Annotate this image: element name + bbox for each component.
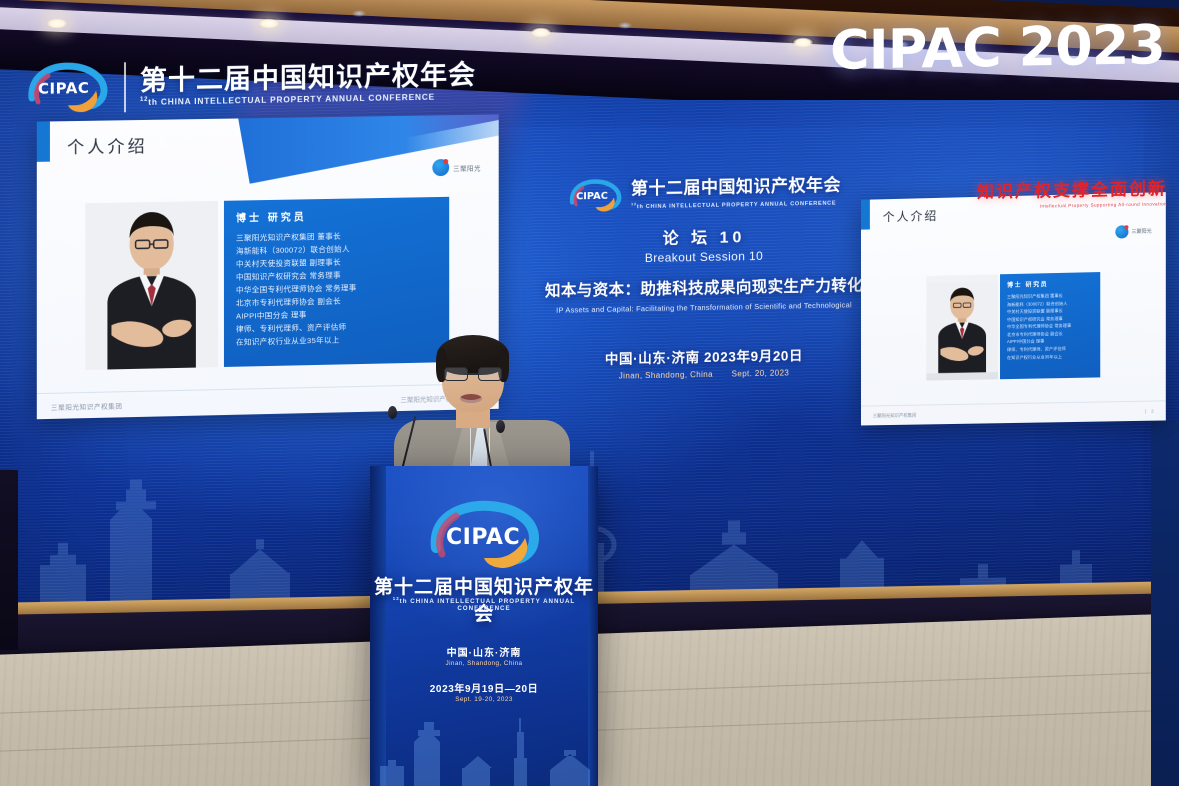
slide-accent-bar: [37, 121, 50, 161]
right-slide-footer-brand: 三聚阳光知识产权集团: [873, 412, 916, 419]
left-slide-brand-text: 三聚阳光: [453, 162, 481, 172]
podium-title-en: 12th CHINA INTELLECTUAL PROPERTY ANNUAL …: [370, 596, 598, 612]
session-location-cn: 中国·山东·济南 2023年9月20日: [545, 343, 863, 369]
session-location-en: Jinan, Shandong, China Sept. 20, 2023: [545, 367, 863, 382]
podium-skyline-silhouette: [370, 700, 598, 786]
right-wall-column: [1151, 420, 1179, 786]
conference-stage-photo: CIPAC 第十二届中国知识产权年会 12th CHINA INTELLECTU…: [0, 0, 1179, 786]
cipac-logo-icon: CIPAC: [422, 498, 546, 570]
cipac-logo-icon: CIPAC: [567, 177, 623, 214]
podium-location-cn: 中国·山东·济南: [370, 644, 598, 659]
eyeglass-lens-right: [478, 367, 502, 381]
sanju-sunshine-logo-icon: [1115, 225, 1128, 238]
left-slide-footer-brand: 三聚阳光知识产权集团: [51, 400, 123, 412]
breakout-session-panel: CIPAC 第十二届中国知识产权年会 12th CHINA INTELLECTU…: [545, 173, 863, 391]
slide-accent-bar: [861, 200, 870, 230]
date-en-text: Sept. 20, 2023: [732, 368, 790, 378]
center-conference-lockup: CIPAC 第十二届中国知识产权年会 12th CHINA INTELLECTU…: [545, 173, 863, 215]
forum-number-cn: 论 坛 10: [545, 221, 863, 251]
wall-title-cn: 第十二届中国知识产权年会: [140, 61, 476, 96]
ceiling-recessed-light: [618, 22, 632, 29]
speaker-podium: CIPAC 第十二届中国知识产权年会 12th CHINA INTELLECTU…: [370, 466, 598, 786]
bio-line: 在知识产权行业从业35年以上: [1007, 352, 1095, 361]
podium-date-cn: 2023年9月19日—20日: [370, 680, 598, 695]
ceiling-spotlight: [530, 27, 552, 38]
right-projected-slide: 个人介绍 三聚阳光 博士 研究员 三聚阳光知识产权集团 董事长: [861, 192, 1166, 425]
speaker-eyeglasses-icon: [444, 367, 502, 381]
ceiling-spotlight: [792, 37, 814, 48]
right-slide-brand: 三聚阳光: [1115, 225, 1151, 239]
forum-number-en: Breakout Session 10: [545, 247, 863, 267]
mic-head-left: [388, 406, 397, 419]
right-slide-brand-text: 三聚阳光: [1131, 228, 1151, 236]
sanju-sunshine-logo-icon: [432, 159, 449, 176]
ceiling-recessed-light: [352, 10, 366, 17]
right-slide-title: 个人介绍: [883, 207, 939, 225]
center-title-cn: 第十二届中国知识产权年会: [631, 177, 841, 200]
podium-location-en: Jinan, Shandong, China: [370, 660, 598, 667]
ceiling-spotlight: [46, 18, 68, 29]
svg-text:CIPAC: CIPAC: [446, 525, 520, 550]
mic-head-right: [496, 420, 505, 433]
left-slide-title: 个人介绍: [67, 132, 148, 158]
session-theme-en: IP Assets and Capital: Facilitating the …: [545, 300, 863, 315]
podium-cipac-logo: CIPAC: [370, 498, 598, 570]
bio-heading: 博士 研究员: [1007, 278, 1095, 289]
svg-text:CIPAC: CIPAC: [38, 79, 89, 98]
session-theme-cn: 知本与资本：助推科技成果向现实生产力转化: [545, 273, 863, 301]
eyeglass-bridge: [468, 373, 478, 375]
slide-footer-divider: |: [1145, 409, 1146, 414]
bio-heading: 博士 研究员: [236, 206, 439, 225]
wall-conference-lockup: CIPAC 第十二届中国知识产权年会 12th CHINA INTELLECTU…: [24, 54, 476, 116]
red-calligraphy-slogan: 知识产权支撑全面创新 Intellectual Property Support…: [977, 174, 1167, 209]
venue-cipac-2023-wordmark: CIPAC 2023: [830, 13, 1165, 82]
left-wall-column: [0, 470, 18, 650]
svg-text:CIPAC: CIPAC: [576, 191, 608, 203]
right-slide-footer-right: | 2: [1145, 409, 1154, 414]
right-slide-portrait-photo: [926, 274, 998, 380]
eyeglass-lens-left: [444, 367, 468, 381]
location-en-text: Jinan, Shandong, China: [619, 370, 713, 381]
slogan-cn: 知识产权支撑全面创新: [977, 174, 1167, 202]
ceiling-spotlight: [258, 18, 280, 29]
left-slide-portrait-photo: [85, 201, 218, 370]
left-slide-brand: 三聚阳光: [432, 158, 481, 176]
lockup-divider: [124, 62, 126, 112]
right-slide-page-number: 2: [1151, 409, 1153, 414]
cipac-logo-icon: CIPAC: [24, 61, 110, 117]
center-title-en: 12th CHINA INTELLECTUAL PROPERTY ANNUAL …: [631, 197, 841, 210]
speaker-mouth: [460, 394, 482, 403]
right-slide-bio-panel: 博士 研究员 三聚阳光知识产权集团 董事长 海新能科（300072）联合创始人 …: [1000, 272, 1100, 379]
